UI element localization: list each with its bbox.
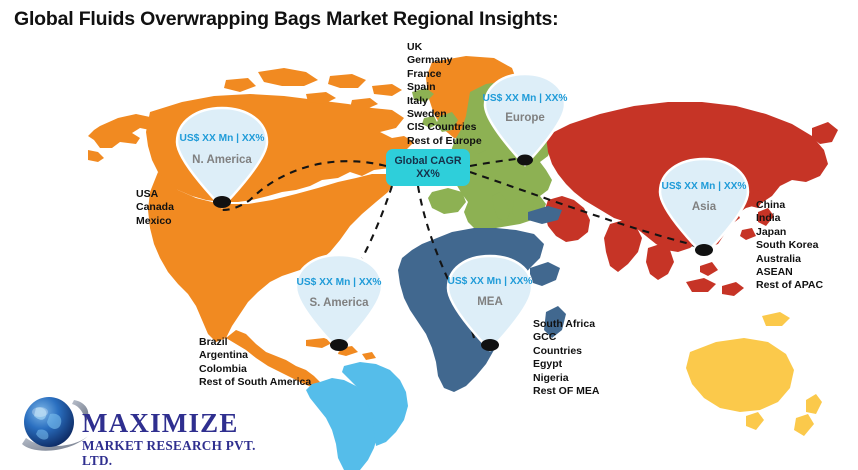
pin-value: US$ XX Mn | XX% xyxy=(444,276,536,287)
country-item: USA xyxy=(136,188,174,201)
country-list-mea: South Africa GCC Countries Egypt Nigeria… xyxy=(533,318,600,398)
map-pin-europe[interactable]: US$ XX Mn | XX% Europe xyxy=(481,72,569,167)
pin-region: N. America xyxy=(173,154,271,166)
country-item: UK xyxy=(407,41,482,54)
country-item: India xyxy=(756,212,823,225)
infographic-canvas: Global Fluids Overwrapping Bags Market R… xyxy=(0,0,858,470)
country-item: Rest of South America xyxy=(199,376,311,389)
country-item: Rest OF MEA xyxy=(533,385,600,398)
map-pin-asia[interactable]: US$ XX Mn | XX% Asia xyxy=(656,157,752,257)
country-list-europe: UK Germany France Spain Italy Sweden CIS… xyxy=(407,41,482,148)
map-pin-south-america[interactable]: US$ XX Mn | XX% S. America xyxy=(292,253,386,352)
country-item: South Africa xyxy=(533,318,600,331)
pin-region: Asia xyxy=(656,201,752,213)
country-item: ASEAN xyxy=(756,266,823,279)
pin-value: US$ XX Mn | XX% xyxy=(656,181,752,192)
map-pin-mea[interactable]: US$ XX Mn | XX% MEA xyxy=(444,254,536,352)
pin-region: S. America xyxy=(292,297,386,309)
country-item: Spain xyxy=(407,81,482,94)
logo-tagline: MARKET RESEARCH PVT. LTD. xyxy=(82,438,266,468)
company-logo: MAXIMIZE MARKET RESEARCH PVT. LTD. xyxy=(16,392,266,464)
country-item: Germany xyxy=(407,54,482,67)
global-cagr-label: Global CAGR xyxy=(394,155,461,168)
country-item: Rest of APAC xyxy=(756,279,823,292)
country-item: GCC xyxy=(533,331,600,344)
country-item: Countries xyxy=(533,345,600,358)
map-pin-north-america[interactable]: US$ XX Mn | XX% N. America xyxy=(173,106,271,209)
country-item: Colombia xyxy=(199,363,311,376)
pin-region: Europe xyxy=(481,112,569,124)
pin-value: US$ XX Mn | XX% xyxy=(292,277,386,288)
map-region-oceania xyxy=(686,312,822,436)
pin-value: US$ XX Mn | XX% xyxy=(481,93,569,104)
country-item: Nigeria xyxy=(533,372,600,385)
country-item: CIS Countries xyxy=(407,121,482,134)
global-cagr-value: XX% xyxy=(416,168,440,181)
country-item: France xyxy=(407,68,482,81)
country-item: Sweden xyxy=(407,108,482,121)
country-item: Canada xyxy=(136,201,174,214)
country-item: South Korea xyxy=(756,239,823,252)
pin-value: US$ XX Mn | XX% xyxy=(173,133,271,144)
country-item: China xyxy=(756,199,823,212)
country-item: Rest of Europe xyxy=(407,135,482,148)
country-item: Egypt xyxy=(533,358,600,371)
global-cagr-badge[interactable]: Global CAGR XX% xyxy=(386,149,470,186)
logo-name: MAXIMIZE xyxy=(82,410,266,437)
country-item: Italy xyxy=(407,95,482,108)
pin-region: MEA xyxy=(444,296,536,308)
page-title: Global Fluids Overwrapping Bags Market R… xyxy=(14,8,558,31)
country-item: Japan xyxy=(756,226,823,239)
country-item: Australia xyxy=(756,253,823,266)
country-item: Mexico xyxy=(136,215,174,228)
country-list-asia: China India Japan South Korea Australia … xyxy=(756,199,823,293)
map-region-south-america xyxy=(306,362,408,470)
country-list-north-america: USA Canada Mexico xyxy=(136,188,174,228)
